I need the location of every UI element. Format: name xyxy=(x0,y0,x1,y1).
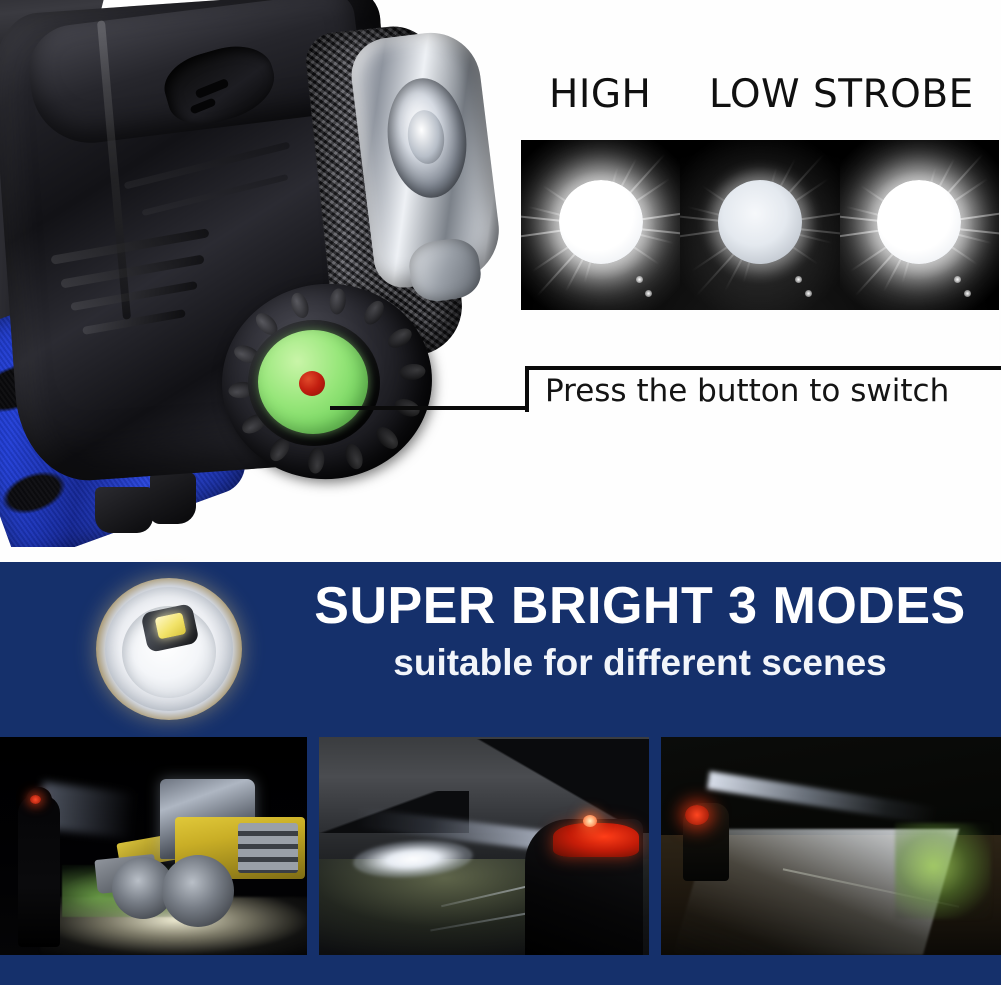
loader-wheel xyxy=(162,855,234,927)
collar-grip-dimple xyxy=(328,288,347,316)
usage-photo-strip xyxy=(0,737,1001,985)
led-beam-high xyxy=(521,140,680,310)
loader-grille xyxy=(238,823,298,873)
headlamp-light-source xyxy=(583,815,597,827)
photo-night-path-walk xyxy=(661,737,1001,955)
led-spark xyxy=(964,290,971,297)
callout-top-rule xyxy=(525,366,1001,370)
led-bulb xyxy=(559,180,643,264)
led-spark xyxy=(795,276,802,283)
angler-red-hood-light xyxy=(553,823,639,857)
led-bulb xyxy=(718,180,802,264)
person-silhouette xyxy=(18,795,60,947)
collar-grip-dimple xyxy=(372,423,402,453)
callout-text: Press the button to switch xyxy=(545,373,1001,409)
collar-grip-dimple xyxy=(360,298,387,329)
headlamp-red-light xyxy=(30,795,41,804)
led-bulb xyxy=(877,180,961,264)
collar-grip-dimple xyxy=(288,291,312,321)
mode-label-low: LOW xyxy=(709,72,800,117)
power-button-indicator-dot xyxy=(299,371,325,396)
led-beam-low xyxy=(680,140,839,310)
led-spark xyxy=(805,290,812,297)
headlamp-red-light xyxy=(685,805,709,825)
led-modes-panel xyxy=(521,140,999,310)
mode-label-high: HIGH xyxy=(549,72,651,117)
headlamp-product-photo xyxy=(0,0,510,547)
product-infographic: HIGH LOW STROBE Press the button to swit… xyxy=(0,0,1001,985)
top-product-section: HIGH LOW STROBE Press the button to swit… xyxy=(0,0,1001,562)
lit-foliage xyxy=(895,823,991,919)
led-spark xyxy=(645,290,652,297)
strap-clip xyxy=(95,487,153,533)
collar-grip-dimple xyxy=(385,325,416,352)
banner-title: SUPER BRIGHT 3 MODES xyxy=(300,580,980,632)
photo-night-construction-loader xyxy=(0,737,307,955)
banner-subtitle: suitable for different scenes xyxy=(300,644,980,681)
callout-leader-line xyxy=(330,406,527,410)
banner-text-block: SUPER BRIGHT 3 MODES suitable for differ… xyxy=(300,580,980,681)
mode-label-strobe: STROBE xyxy=(813,72,974,117)
collar-grip-dimple xyxy=(342,442,366,472)
led-beam-strobe xyxy=(840,140,999,310)
led-spark xyxy=(636,276,643,283)
collar-grip-dimple xyxy=(307,447,326,475)
mode-labels: HIGH LOW STROBE xyxy=(521,72,1001,124)
strap-clip-secondary xyxy=(150,472,196,524)
collar-grip-dimple xyxy=(399,363,427,382)
photo-night-fishing-lake xyxy=(319,737,649,955)
led-reflector-icon xyxy=(96,578,242,720)
